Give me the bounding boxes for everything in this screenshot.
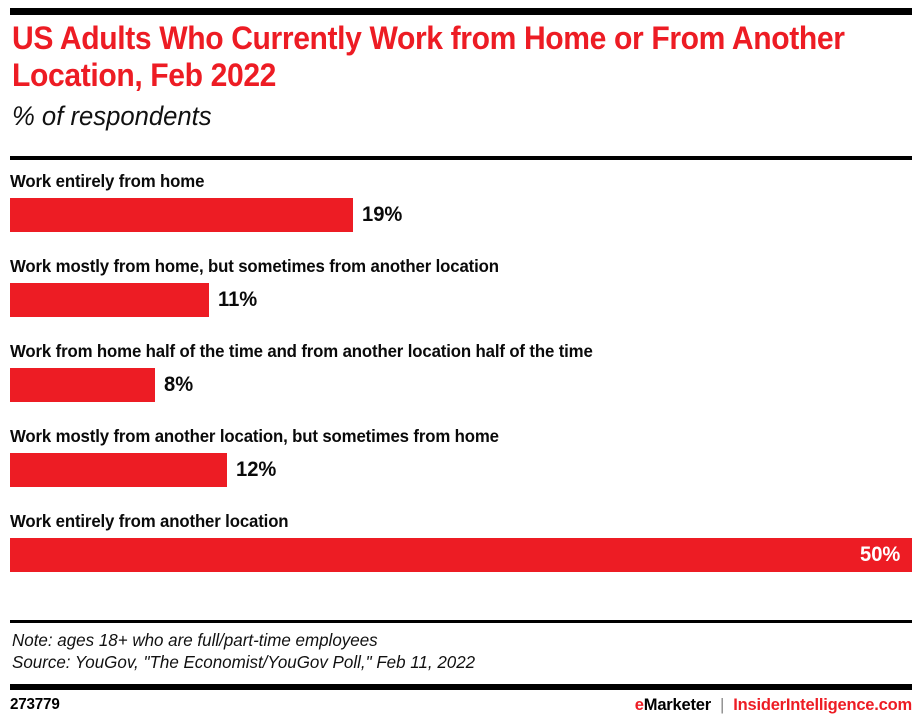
bar-group: Work from home half of the time and from… — [10, 340, 912, 425]
bar-group: Work entirely from another location 50% — [10, 510, 912, 595]
chart-page: US Adults Who Currently Work from Home o… — [0, 0, 922, 725]
brand-separator: | — [720, 695, 724, 715]
bar-value-label: 8% — [164, 368, 193, 402]
notes-divider — [10, 620, 912, 623]
bar — [10, 283, 209, 317]
bar-category-label: Work entirely from another location — [10, 510, 876, 532]
bar-value-label: 50% — [860, 538, 900, 572]
bar-group: Work entirely from home 19% — [10, 170, 912, 255]
bar: 50% — [10, 538, 912, 572]
page-subtitle: % of respondents — [12, 100, 867, 132]
bar — [10, 368, 155, 402]
brand-emarketer-name: Marketer — [644, 696, 711, 715]
bar-row: 12% — [10, 453, 912, 487]
bottom-divider — [10, 684, 912, 690]
brand-website: InsiderIntelligence.com — [733, 696, 912, 715]
top-divider — [10, 8, 912, 15]
bar-category-label: Work entirely from home — [10, 170, 876, 192]
brand-emarketer-e: e — [635, 696, 644, 715]
bar-row: 8% — [10, 368, 912, 402]
bar-category-label: Work mostly from home, but sometimes fro… — [10, 255, 876, 277]
bar-group: Work mostly from home, but sometimes fro… — [10, 255, 912, 340]
bar-row: 11% — [10, 283, 912, 317]
bar-row: 19% — [10, 198, 912, 232]
bar-group: Work mostly from another location, but s… — [10, 425, 912, 510]
bar-category-label: Work mostly from another location, but s… — [10, 425, 876, 447]
bar-chart: Work entirely from home 19% Work mostly … — [10, 170, 912, 610]
chart-id: 273779 — [10, 696, 60, 714]
header-divider — [10, 156, 912, 160]
bar-value-label: 12% — [236, 453, 276, 487]
bar-value-label: 19% — [362, 198, 402, 232]
brand-lockup: eMarketer | InsiderIntelligence.com — [635, 695, 912, 715]
bar-category-label: Work from home half of the time and from… — [10, 340, 876, 362]
bar — [10, 453, 227, 487]
bar-row: 50% — [10, 538, 912, 572]
page-title: US Adults Who Currently Work from Home o… — [12, 20, 858, 94]
source-text: Source: YouGov, "The Economist/YouGov Po… — [12, 651, 875, 673]
chart-notes: Note: ages 18+ who are full/part-time em… — [12, 629, 875, 673]
chart-footer: 273779 eMarketer | InsiderIntelligence.c… — [10, 695, 912, 715]
note-text: Note: ages 18+ who are full/part-time em… — [12, 629, 875, 651]
bar — [10, 198, 353, 232]
bar-value-label: 11% — [218, 283, 257, 317]
chart-header: US Adults Who Currently Work from Home o… — [12, 20, 912, 132]
